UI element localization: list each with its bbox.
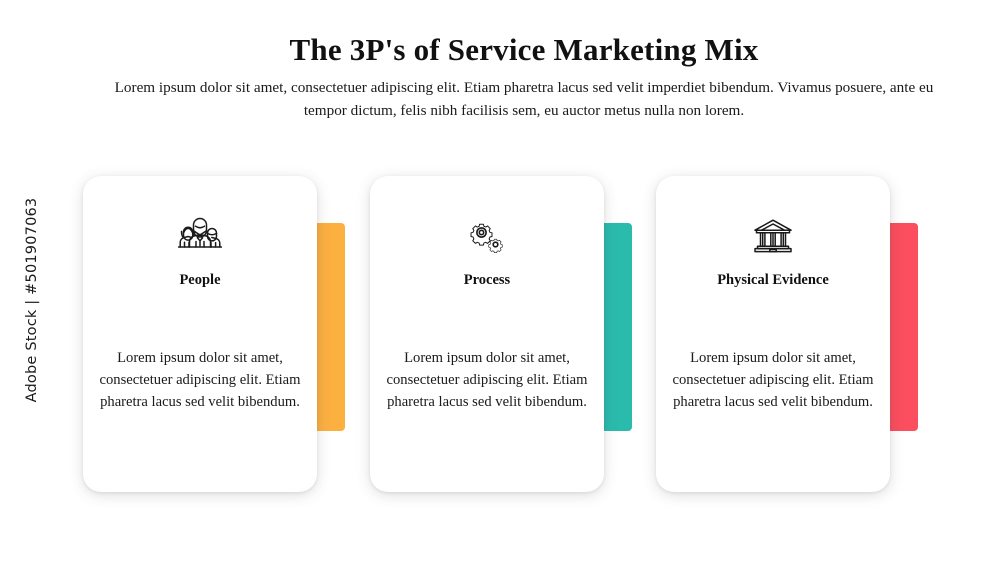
card-body-text: Lorem ipsum dolor sit amet, consectetuer… <box>99 348 301 414</box>
card-body-text: Lorem ipsum dolor sit amet, consectetuer… <box>386 348 588 414</box>
header: The 3P's of Service Marketing Mix Lorem … <box>48 0 1000 122</box>
card-title: People <box>83 272 317 289</box>
card-physical-evidence[interactable]: Physical Evidence Lorem ipsum dolor sit … <box>656 176 918 492</box>
card-process[interactable]: Process Lorem ipsum dolor sit amet, cons… <box>370 176 632 492</box>
cards-container: People Lorem ipsum dolor sit amet, conse… <box>0 176 1000 492</box>
people-group-icon <box>83 210 317 264</box>
gears-icon <box>370 210 604 264</box>
page-subtitle: Lorem ipsum dolor sit amet, consectetuer… <box>109 77 939 122</box>
card-title: Process <box>370 272 604 289</box>
card-surface[interactable]: People Lorem ipsum dolor sit amet, conse… <box>83 176 317 492</box>
bank-building-icon <box>656 210 890 264</box>
card-people[interactable]: People Lorem ipsum dolor sit amet, conse… <box>83 176 345 492</box>
card-surface[interactable]: Physical Evidence Lorem ipsum dolor sit … <box>656 176 890 492</box>
card-surface[interactable]: Process Lorem ipsum dolor sit amet, cons… <box>370 176 604 492</box>
card-body-text: Lorem ipsum dolor sit amet, consectetuer… <box>672 348 874 414</box>
card-title: Physical Evidence <box>656 272 890 289</box>
page-title: The 3P's of Service Marketing Mix <box>48 0 1000 68</box>
